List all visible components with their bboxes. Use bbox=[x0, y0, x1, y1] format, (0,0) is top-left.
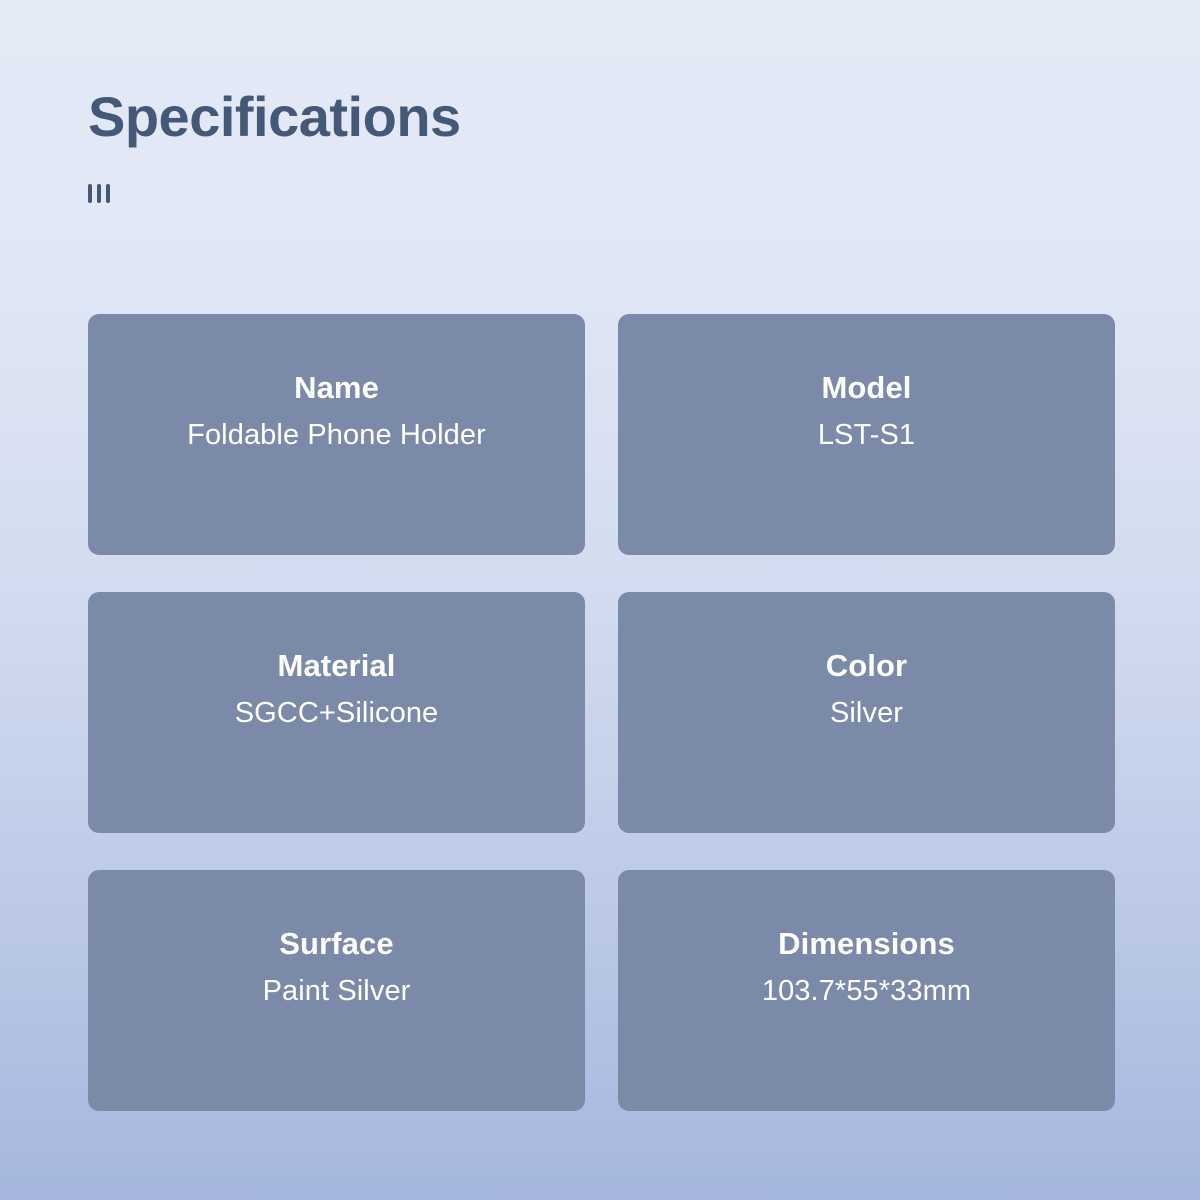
spec-label: Dimensions bbox=[778, 926, 955, 963]
specifications-page: Specifications Name Foldable Phone Holde… bbox=[0, 0, 1200, 1200]
spec-card-surface[interactable]: Surface Paint Silver bbox=[88, 870, 585, 1111]
spec-card-content: Material SGCC+Silicone bbox=[88, 592, 585, 833]
accent-bar-1 bbox=[88, 184, 92, 203]
spec-card-content: Dimensions 103.7*55*33mm bbox=[618, 870, 1115, 1111]
spec-card-name[interactable]: Name Foldable Phone Holder bbox=[88, 314, 585, 555]
spec-label: Surface bbox=[279, 926, 393, 963]
spec-value: SGCC+Silicone bbox=[235, 696, 439, 731]
spec-card-content: Name Foldable Phone Holder bbox=[88, 314, 585, 555]
spec-label: Name bbox=[294, 370, 379, 407]
page-header: Specifications bbox=[88, 88, 1118, 203]
spec-card-material[interactable]: Material SGCC+Silicone bbox=[88, 592, 585, 833]
page-title: Specifications bbox=[88, 88, 1118, 147]
spec-card-model[interactable]: Model LST-S1 bbox=[618, 314, 1115, 555]
specifications-grid: Name Foldable Phone Holder Model LST-S1 … bbox=[88, 314, 1115, 1111]
accent-bar-3 bbox=[106, 184, 110, 203]
spec-value: Silver bbox=[830, 696, 903, 731]
spec-value: 103.7*55*33mm bbox=[762, 974, 971, 1009]
accent-bar-2 bbox=[97, 184, 101, 203]
spec-card-content: Model LST-S1 bbox=[618, 314, 1115, 555]
spec-card-dimensions[interactable]: Dimensions 103.7*55*33mm bbox=[618, 870, 1115, 1111]
spec-label: Material bbox=[278, 648, 396, 685]
spec-value: Foldable Phone Holder bbox=[187, 418, 486, 453]
spec-value: Paint Silver bbox=[263, 974, 411, 1009]
three-bars-icon bbox=[88, 183, 1118, 203]
spec-label: Color bbox=[826, 648, 907, 685]
spec-value: LST-S1 bbox=[818, 418, 915, 453]
spec-label: Model bbox=[821, 370, 911, 407]
spec-card-color[interactable]: Color Silver bbox=[618, 592, 1115, 833]
spec-card-content: Surface Paint Silver bbox=[88, 870, 585, 1111]
spec-card-content: Color Silver bbox=[618, 592, 1115, 833]
